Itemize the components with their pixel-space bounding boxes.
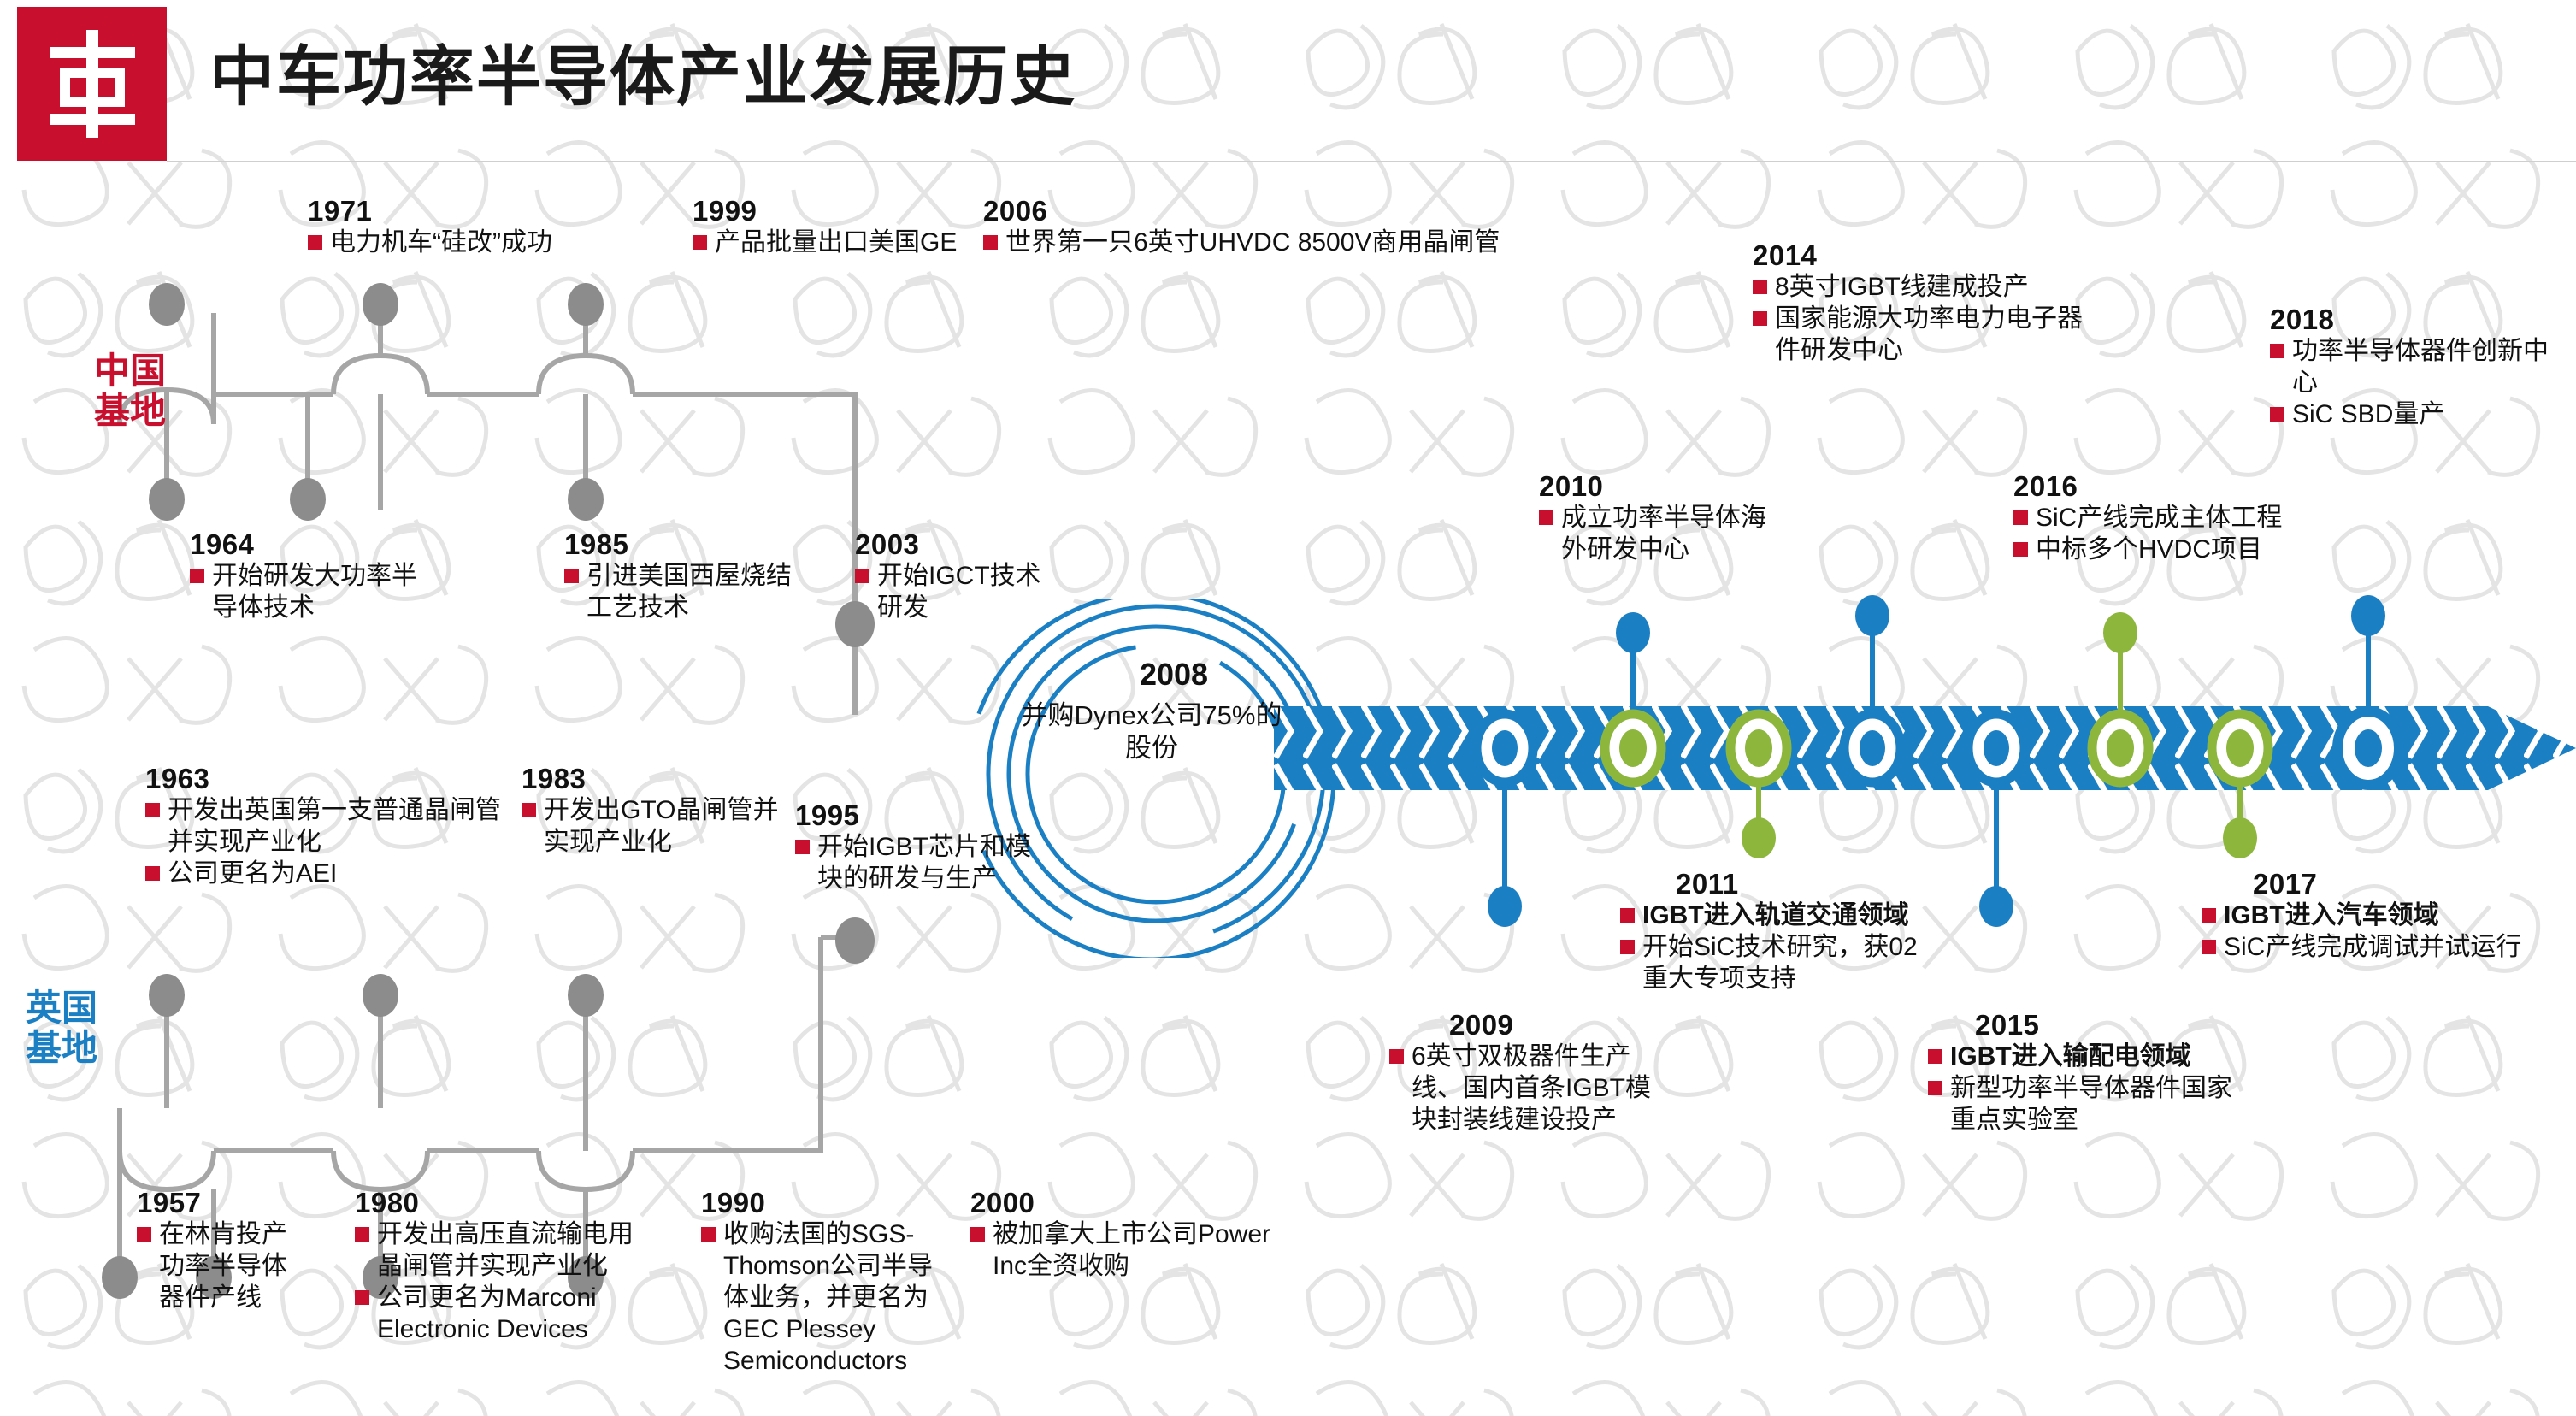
event-year: 1995 bbox=[795, 799, 1052, 832]
page-header: 中车功率半导体产业发展历史 bbox=[0, 0, 2576, 168]
event-2006: 2006 世界第一只6英寸UHVDC 8500V商用晶闸管 bbox=[983, 195, 1659, 259]
header-divider bbox=[167, 161, 2576, 162]
merger-year: 2008 bbox=[1076, 657, 1272, 693]
event-bullets: 世界第一只6英寸UHVDC 8500V商用晶闸管 bbox=[983, 227, 1659, 259]
region-uk-line1: 英国 bbox=[26, 988, 97, 1028]
event-year: 2014 bbox=[1753, 239, 2086, 272]
event-bullets: 6英寸双极器件生产线、国内首条IGBT模块封装线建设投产 bbox=[1389, 1041, 1654, 1136]
event-year: 2006 bbox=[983, 195, 1659, 227]
region-label-china: 中国 基地 bbox=[94, 351, 166, 431]
timeline-node-markers bbox=[1274, 479, 2576, 1009]
event-year: 2009 bbox=[1449, 1009, 1654, 1041]
event-1980: 1980 开发出高压直流输电用晶闸管并实现产业化 公司更名为Marconi El… bbox=[355, 1187, 645, 1346]
event-year: 1964 bbox=[190, 528, 438, 561]
region-label-uk: 英国 基地 bbox=[26, 988, 97, 1068]
event-year: 1983 bbox=[522, 763, 804, 795]
event-year: 1971 bbox=[308, 195, 675, 227]
page-title: 中车功率半导体产业发展历史 bbox=[209, 24, 1076, 118]
event-bullets: 被加拿大上市公司Power Inc全资收购 bbox=[970, 1219, 1287, 1283]
event-2009: 2009 6英寸双极器件生产线、国内首条IGBT模块封装线建设投产 bbox=[1389, 1009, 1654, 1136]
event-year: 2003 bbox=[855, 528, 1060, 561]
event-bullets: 在林肯投产功率半导体器件产线 bbox=[137, 1219, 291, 1314]
infographic-canvas: 中车功率半导体产业发展历史 bbox=[0, 0, 2576, 1416]
event-bullets: 引进美国西屋烧结工艺技术 bbox=[564, 561, 812, 624]
event-year: 1963 bbox=[145, 763, 504, 795]
event-2018: 2018 功率半导体器件创新中心 SiC SBD量产 bbox=[2270, 304, 2569, 431]
event-bullets: 开始IGCT技术研发 bbox=[855, 561, 1060, 624]
event-2014: 2014 8英寸IGBT线建成投产 国家能源大功率电力电子器件研发中心 bbox=[1753, 239, 2086, 367]
region-china-line2: 基地 bbox=[94, 391, 166, 431]
event-1957: 1957 在林肯投产功率半导体器件产线 bbox=[137, 1187, 291, 1314]
event-bullets: 开发出高压直流输电用晶闸管并实现产业化 公司更名为Marconi Electro… bbox=[355, 1219, 645, 1346]
event-year: 1990 bbox=[701, 1187, 958, 1219]
event-1995: 1995 开始IGBT芯片和模块的研发与生产 bbox=[795, 799, 1052, 895]
event-bullets: 电力机车“硅改”成功 bbox=[308, 227, 675, 259]
event-1963: 1963 开发出英国第一支普通晶闸管并实现产业化 公司更名为AEI bbox=[145, 763, 504, 890]
event-bullets: IGBT进入输配电领域 新型功率半导体器件国家重点实验室 bbox=[1928, 1041, 2236, 1136]
event-2003: 2003 开始IGCT技术研发 bbox=[855, 528, 1060, 624]
event-1983: 1983 开发出GTO晶闸管并实现产业化 bbox=[522, 763, 804, 858]
event-2015: 2015 IGBT进入输配电领域 新型功率半导体器件国家重点实验室 bbox=[1928, 1009, 2236, 1136]
event-1990: 1990 收购法国的SGS-Thomson公司半导体业务，并更名为GEC Ple… bbox=[701, 1187, 958, 1377]
event-year: 1985 bbox=[564, 528, 812, 561]
event-year: 2018 bbox=[2270, 304, 2569, 336]
region-uk-line2: 基地 bbox=[26, 1028, 97, 1068]
event-bullets: 开发出GTO晶闸管并实现产业化 bbox=[522, 795, 804, 858]
merger-text: 并购Dynex公司75%的股份 bbox=[1011, 699, 1293, 764]
region-china-line1: 中国 bbox=[94, 351, 166, 391]
event-bullets: 8英寸IGBT线建成投产 国家能源大功率电力电子器件研发中心 bbox=[1753, 272, 2086, 367]
event-year: 2015 bbox=[1975, 1009, 2236, 1041]
event-1971: 1971 电力机车“硅改”成功 bbox=[308, 195, 675, 259]
event-2000: 2000 被加拿大上市公司Power Inc全资收购 bbox=[970, 1187, 1287, 1283]
event-1985: 1985 引进美国西屋烧结工艺技术 bbox=[564, 528, 812, 624]
event-bullets: 收购法国的SGS-Thomson公司半导体业务，并更名为GEC Plessey … bbox=[701, 1219, 958, 1377]
event-year: 1957 bbox=[137, 1187, 291, 1219]
event-year: 1980 bbox=[355, 1187, 645, 1219]
event-1964: 1964 开始研发大功率半导体技术 bbox=[190, 528, 438, 624]
logo-glyph-icon bbox=[41, 28, 144, 139]
event-year: 2000 bbox=[970, 1187, 1287, 1219]
event-bullets: 功率半导体器件创新中心 SiC SBD量产 bbox=[2270, 336, 2569, 431]
event-bullets: 开始研发大功率半导体技术 bbox=[190, 561, 438, 624]
crrc-logo bbox=[17, 7, 167, 161]
event-bullets: 开始IGBT芯片和模块的研发与生产 bbox=[795, 832, 1052, 895]
event-bullets: 开发出英国第一支普通晶闸管并实现产业化 公司更名为AEI bbox=[145, 795, 504, 890]
